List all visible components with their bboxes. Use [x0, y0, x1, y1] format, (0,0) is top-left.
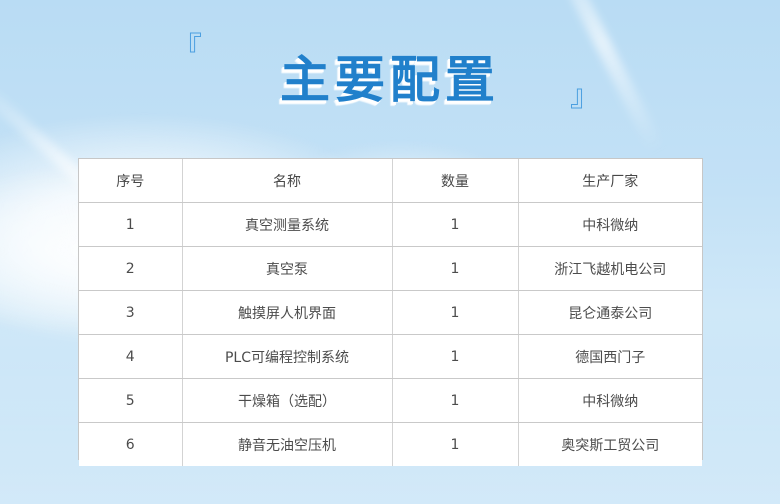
- cell-manufacturer: 中科微纳: [518, 203, 702, 247]
- table-row: 6 静音无油空压机 1 奥突斯工贸公司: [79, 423, 702, 467]
- configuration-table-container: 序号 名称 数量 生产厂家 1 真空测量系统 1 中科微纳 2 真空泵 1 浙江: [78, 158, 703, 460]
- cell-name: 真空泵: [182, 247, 392, 291]
- table-row: 1 真空测量系统 1 中科微纳: [79, 203, 702, 247]
- cell-name: PLC可编程控制系统: [182, 335, 392, 379]
- cell-index: 3: [79, 291, 182, 335]
- cell-quantity: 1: [392, 335, 518, 379]
- cell-name: 静音无油空压机: [182, 423, 392, 467]
- column-header-name: 名称: [182, 159, 392, 203]
- heading-block: 『 主要配置 』: [0, 22, 780, 132]
- cell-quantity: 1: [392, 423, 518, 467]
- column-header-manufacturer: 生产厂家: [518, 159, 702, 203]
- cell-index: 6: [79, 423, 182, 467]
- cell-index: 5: [79, 379, 182, 423]
- cell-index: 2: [79, 247, 182, 291]
- slide-canvas: 『 主要配置 』 序号 名称 数量 生产厂家 1 真空测量系统 1: [0, 0, 780, 504]
- cell-name: 干燥箱（选配）: [182, 379, 392, 423]
- table-row: 3 触摸屏人机界面 1 昆仑通泰公司: [79, 291, 702, 335]
- cell-quantity: 1: [392, 379, 518, 423]
- page-title: 主要配置: [0, 40, 780, 112]
- cell-manufacturer: 奥突斯工贸公司: [518, 423, 702, 467]
- cell-index: 4: [79, 335, 182, 379]
- cell-name: 真空测量系统: [182, 203, 392, 247]
- cell-manufacturer: 浙江飞越机电公司: [518, 247, 702, 291]
- cell-index: 1: [79, 203, 182, 247]
- cell-quantity: 1: [392, 247, 518, 291]
- column-header-quantity: 数量: [392, 159, 518, 203]
- cell-quantity: 1: [392, 291, 518, 335]
- table-row: 2 真空泵 1 浙江飞越机电公司: [79, 247, 702, 291]
- column-header-index: 序号: [79, 159, 182, 203]
- cell-manufacturer: 德国西门子: [518, 335, 702, 379]
- cell-manufacturer: 中科微纳: [518, 379, 702, 423]
- cell-name: 触摸屏人机界面: [182, 291, 392, 335]
- table-header-row: 序号 名称 数量 生产厂家: [79, 159, 702, 203]
- table-row: 4 PLC可编程控制系统 1 德国西门子: [79, 335, 702, 379]
- cell-quantity: 1: [392, 203, 518, 247]
- quote-bracket-close-icon: 』: [570, 82, 600, 112]
- table-row: 5 干燥箱（选配） 1 中科微纳: [79, 379, 702, 423]
- configuration-table: 序号 名称 数量 生产厂家 1 真空测量系统 1 中科微纳 2 真空泵 1 浙江: [79, 159, 702, 466]
- cell-manufacturer: 昆仑通泰公司: [518, 291, 702, 335]
